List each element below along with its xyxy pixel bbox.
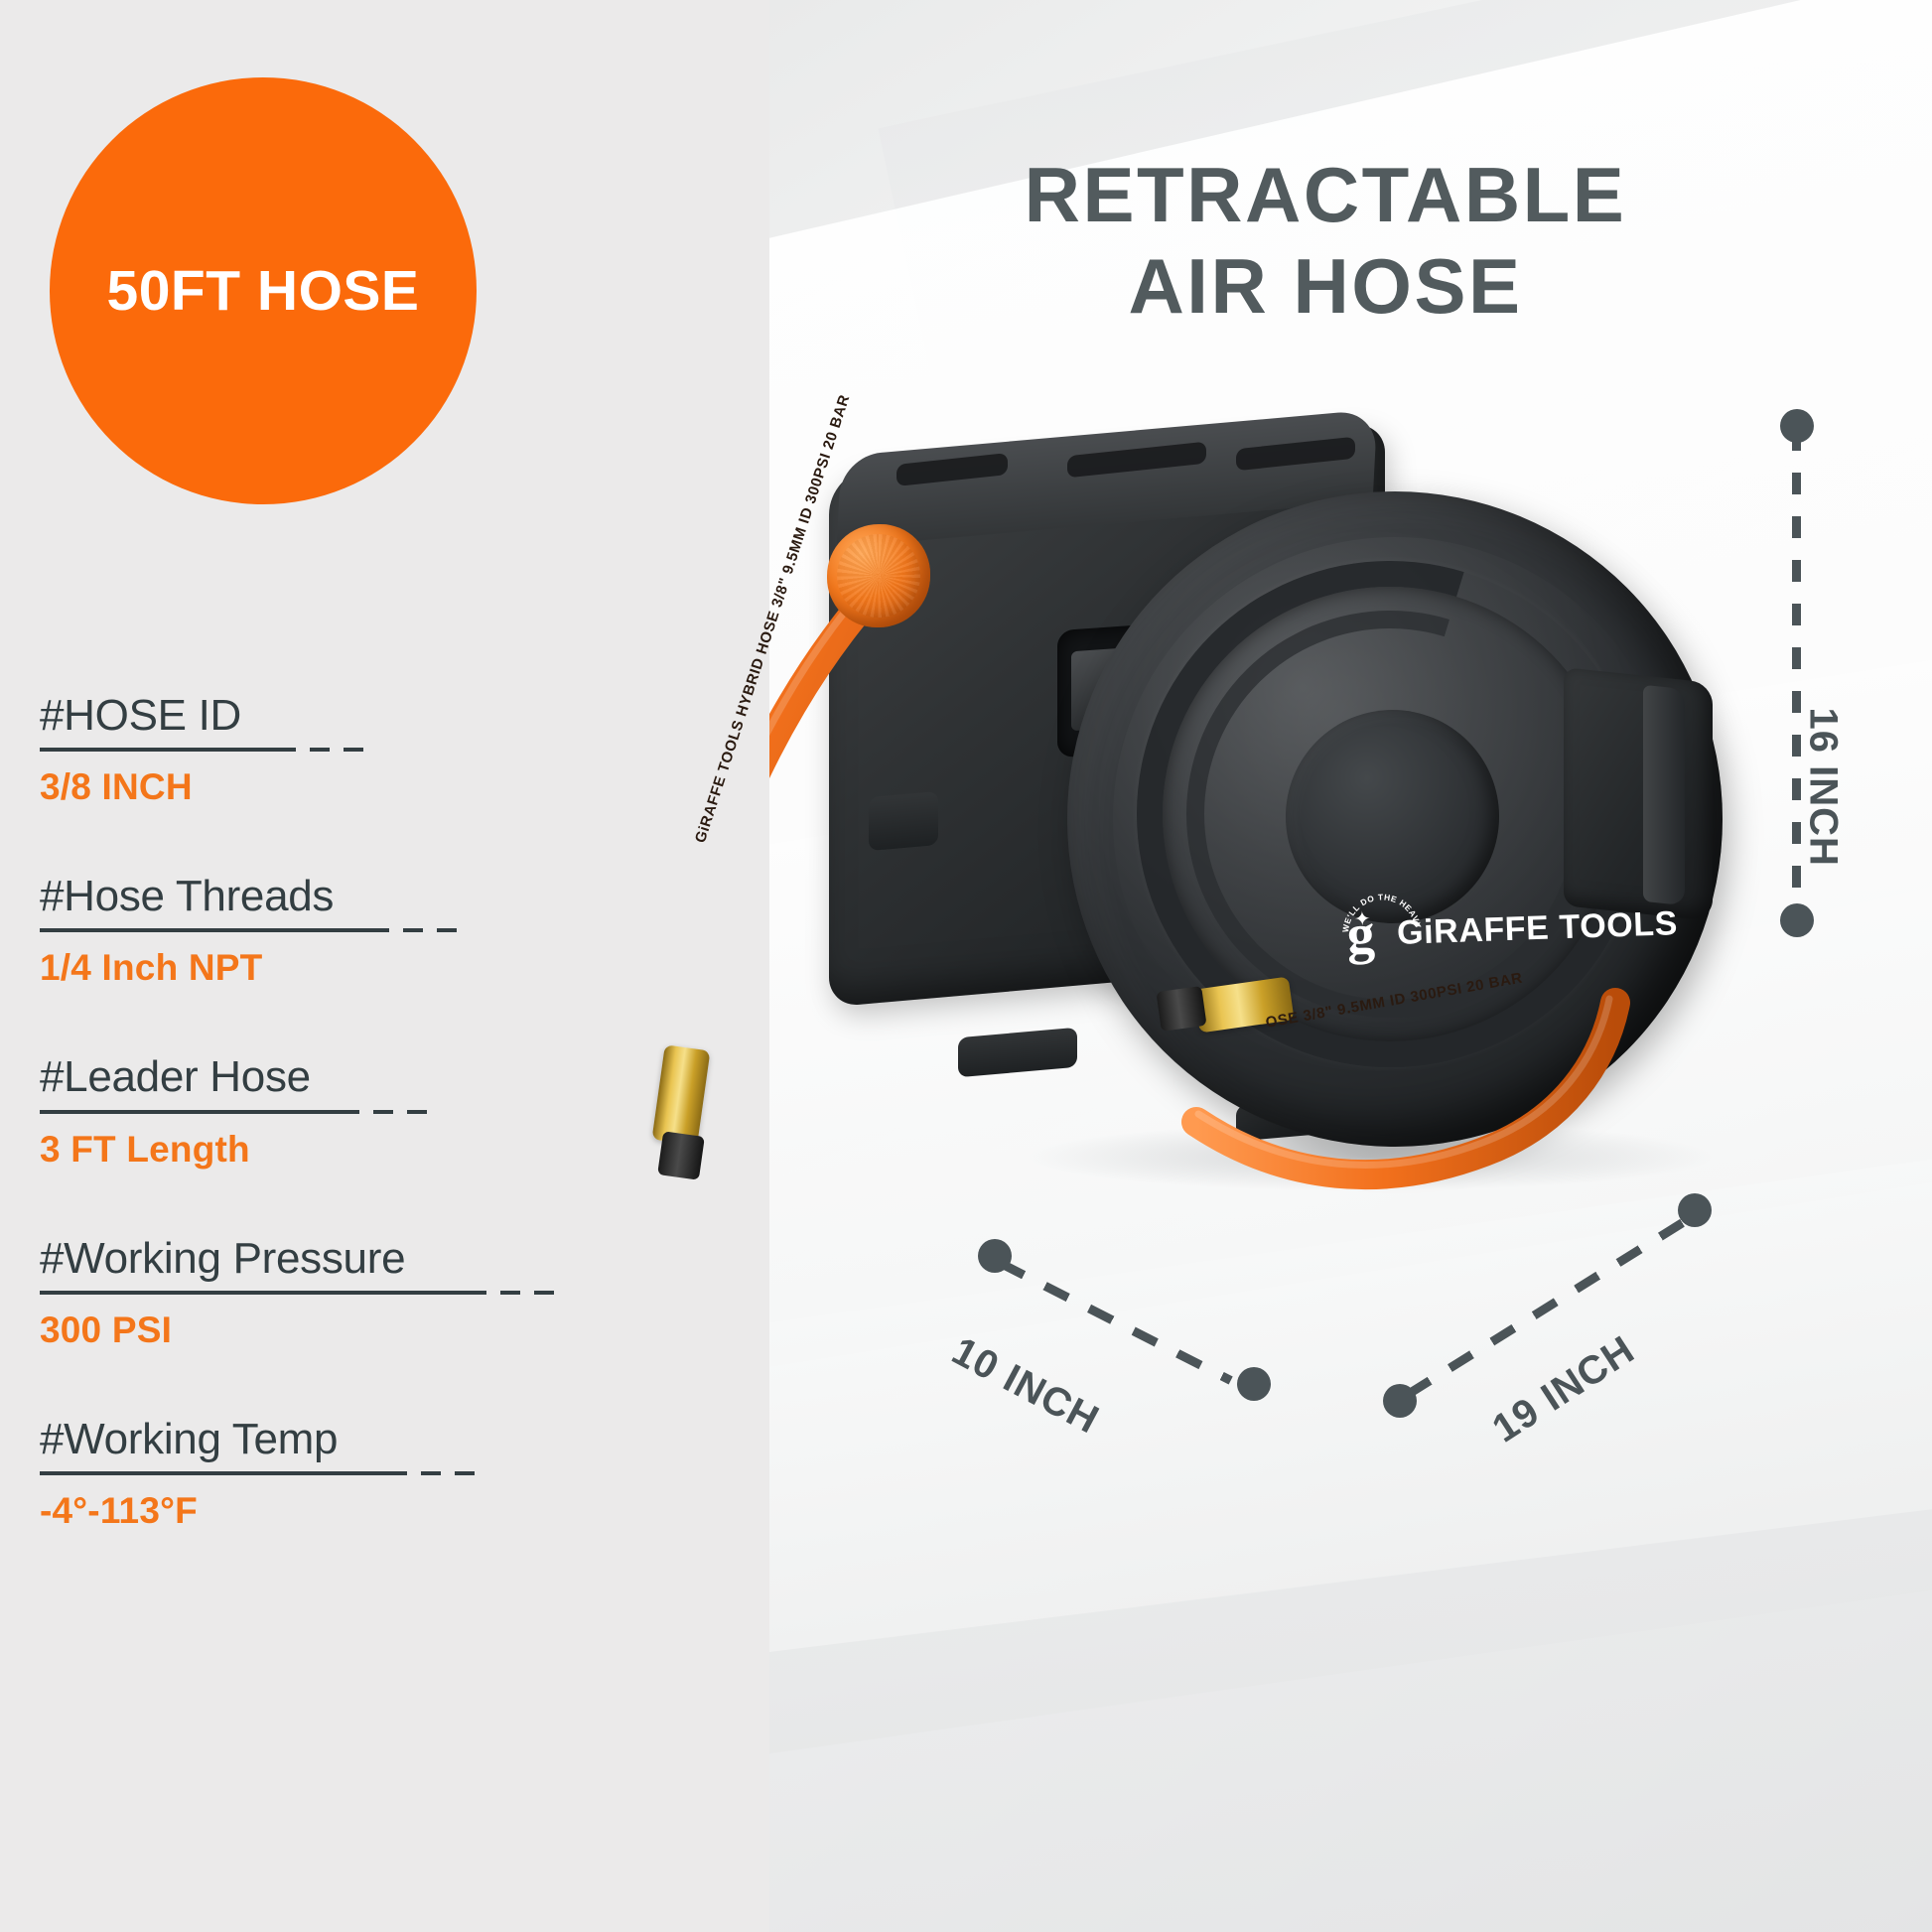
product-image: WE'LL DO THE HEAVY LIFTING g ✦ GiRAFFE T… [769, 0, 1932, 1932]
spec-list: #HOSE ID 3/8 INCH #Hose Threads 1/4 Inch… [40, 693, 735, 1597]
spec-divider [40, 745, 735, 755]
spec-value: -4°-113°F [40, 1490, 735, 1532]
housing-foot [869, 791, 938, 851]
brand-tagline-text: WE'LL DO THE HEAVY LIFTING [1339, 891, 1424, 934]
spec-divider-solid [40, 1471, 407, 1475]
hose-fitting-cap-lower [1156, 986, 1206, 1032]
spec-divider-solid [40, 1291, 486, 1295]
spec-divider-solid [40, 928, 389, 932]
brand-tagline-ring: WE'LL DO THE HEAVY LIFTING [1339, 893, 1383, 977]
spec-value: 1/4 Inch NPT [40, 947, 735, 989]
dimension-height-label: 16 INCH [1801, 708, 1846, 867]
brand-name-label: GiRAFFE TOOLS [1396, 904, 1678, 953]
hose-stopper-ball [827, 524, 930, 627]
spec-item-working-temp: #Working Temp -4°-113°F [40, 1417, 735, 1532]
spec-divider-dashed [373, 1110, 437, 1114]
spec-title: #Working Temp [40, 1417, 735, 1462]
spec-value: 3 FT Length [40, 1129, 735, 1171]
spec-panel: 50FT HOSE #HOSE ID 3/8 INCH #Hose Thread… [0, 0, 769, 1932]
wall-bracket-lip [1643, 685, 1685, 905]
spec-divider-solid [40, 1110, 359, 1114]
spec-divider [40, 1107, 735, 1117]
infographic-page: 50FT HOSE #HOSE ID 3/8 INCH #Hose Thread… [0, 0, 1932, 1932]
spec-divider [40, 1468, 735, 1478]
spec-value: 3/8 INCH [40, 766, 735, 808]
dimension-endpoint-dot [1780, 903, 1814, 937]
spec-item-hose-id: #HOSE ID 3/8 INCH [40, 693, 735, 808]
spec-value: 300 PSI [40, 1310, 735, 1351]
spec-divider-solid [40, 748, 296, 752]
dimension-endpoint-dot [1678, 1193, 1712, 1227]
hose-length-badge-label: 50FT HOSE [107, 258, 420, 324]
spec-divider [40, 1288, 735, 1298]
spec-item-leader-hose: #Leader Hose 3 FT Length [40, 1054, 735, 1170]
spec-item-hose-threads: #Hose Threads 1/4 Inch NPT [40, 874, 735, 989]
spec-divider-dashed [403, 928, 467, 932]
spec-divider-dashed [500, 1291, 564, 1295]
dimension-endpoint-dot [1237, 1367, 1271, 1401]
spec-divider [40, 925, 735, 935]
spec-item-working-pressure: #Working Pressure 300 PSI [40, 1236, 735, 1351]
hose-length-badge: 50FT HOSE [50, 77, 477, 504]
giraffe-g-icon: WE'LL DO THE HEAVY LIFTING g ✦ [1339, 893, 1383, 977]
spec-divider-dashed [310, 748, 373, 752]
spec-title: #Leader Hose [40, 1054, 735, 1100]
spec-title: #HOSE ID [40, 693, 735, 739]
brand-tagline-arc: WE'LL DO THE HEAVY LIFTING [1339, 891, 1426, 977]
spec-divider-dashed [421, 1471, 484, 1475]
hose-fitting-cap-upper [657, 1131, 705, 1179]
housing-foot [958, 1028, 1077, 1077]
spec-title: #Hose Threads [40, 874, 735, 919]
brand-logo: WE'LL DO THE HEAVY LIFTING g ✦ GiRAFFE T… [1338, 878, 1679, 981]
svg-text:WE'LL DO THE HEAVY LIFTING: WE'LL DO THE HEAVY LIFTING [1339, 891, 1424, 934]
star-icon: ✦ [1353, 906, 1371, 932]
spec-title: #Working Pressure [40, 1236, 735, 1282]
